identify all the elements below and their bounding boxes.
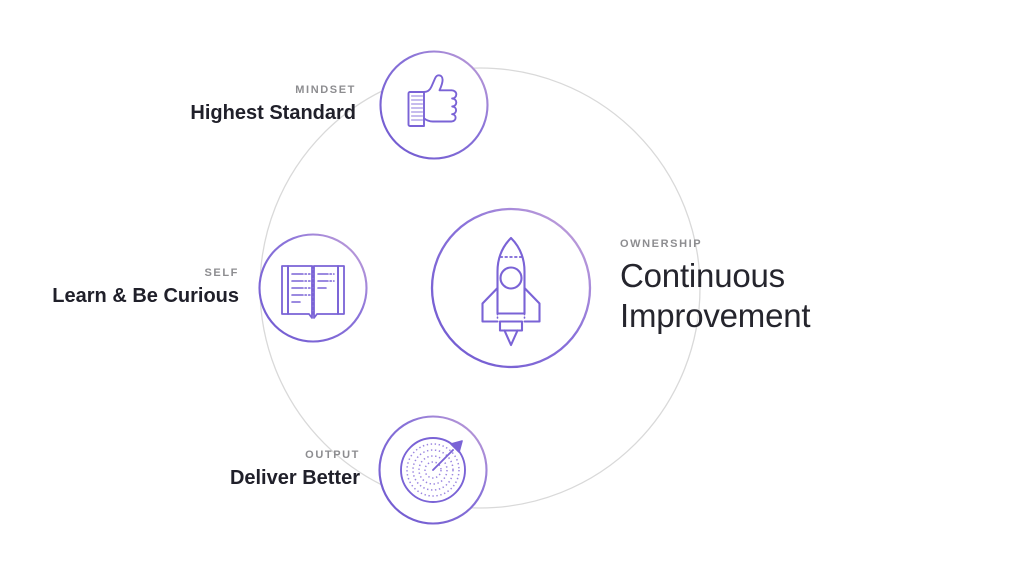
label-mindset-headline: Highest Standard [190,102,356,125]
label-mindset: MINDSET Highest Standard [190,84,356,125]
label-output-headline: Deliver Better [230,467,360,490]
label-mindset-eyebrow: MINDSET [190,84,356,96]
node-mindset[interactable] [381,52,488,159]
label-output: OUTPUT Deliver Better [230,449,360,490]
node-ownership[interactable] [432,209,590,367]
label-ownership-eyebrow: OWNERSHIP [620,238,810,250]
diagram-canvas: MINDSET Highest Standard SELF Learn & Be… [0,0,1024,576]
label-self: SELF Learn & Be Curious [52,267,239,308]
label-self-eyebrow: SELF [52,267,239,279]
label-ownership: OWNERSHIP Continuous Improvement [620,238,810,337]
label-ownership-headline-line-1: Continuous [620,256,810,296]
node-self-circle [260,235,367,342]
node-mindset-circle [381,52,488,159]
node-output[interactable] [380,417,487,524]
label-ownership-headline-line-2: Improvement [620,296,810,336]
label-output-eyebrow: OUTPUT [230,449,360,461]
label-self-headline: Learn & Be Curious [52,285,239,308]
node-self[interactable] [260,235,367,342]
